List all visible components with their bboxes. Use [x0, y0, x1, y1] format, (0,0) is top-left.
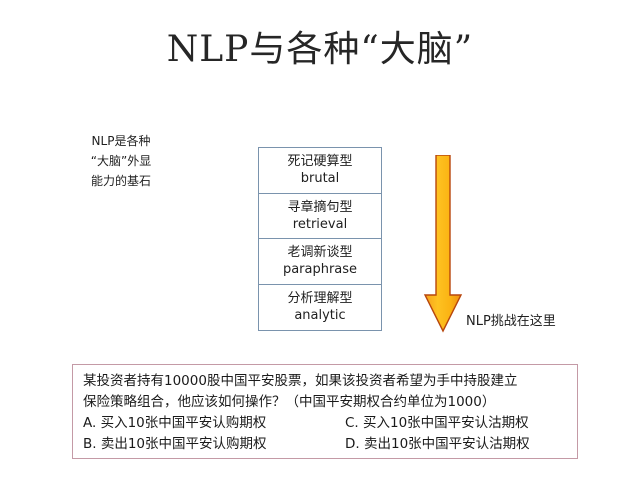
- question-options-left-column: A. 买入10张中国平安认购期权 B. 卖出10张中国平安认购期权: [83, 413, 345, 455]
- brain-row-cn-label: 死记硬算型: [287, 153, 352, 170]
- brain-row-en-label: analytic: [294, 307, 345, 324]
- option-d[interactable]: D. 卖出10张中国平安认沽期权: [345, 434, 569, 455]
- brain-row-cn-label: 老调新谈型: [287, 244, 352, 261]
- slide-canvas: NLP与各种“大脑” NLP是各种 “大脑”外显 能力的基石 死记硬算型 bru…: [0, 0, 640, 481]
- left-caption-line-1: NLP是各种: [62, 131, 180, 151]
- brain-row-cn-label: 寻章摘句型: [287, 199, 352, 216]
- brain-row-en-label: paraphrase: [283, 261, 357, 278]
- brain-row-analytic: 分析理解型 analytic: [259, 285, 381, 331]
- option-b[interactable]: B. 卖出10张中国平安认购期权: [83, 434, 345, 455]
- brain-row-retrieval: 寻章摘句型 retrieval: [259, 194, 381, 240]
- question-stem-line-2: 保险策略组合，他应该如何操作？（中国平安期权合约单位为1000）: [83, 392, 569, 413]
- left-caption-line-3: 能力的基石: [62, 171, 180, 191]
- left-caption-line-2: “大脑”外显: [62, 151, 180, 171]
- question-box: 某投资者持有10000股中国平安股票，如果该投资者希望为手中持股建立 保险策略组…: [72, 364, 578, 459]
- brain-row-paraphrase: 老调新谈型 paraphrase: [259, 239, 381, 285]
- question-options-right-column: C. 买入10张中国平安认沽期权 D. 卖出10张中国平安认沽期权: [345, 413, 569, 455]
- brain-row-cn-label: 分析理解型: [287, 290, 352, 307]
- arrow-label: NLP挑战在这里: [466, 310, 556, 329]
- brain-row-en-label: brutal: [301, 170, 340, 187]
- question-options: A. 买入10张中国平安认购期权 B. 卖出10张中国平安认购期权 C. 买入1…: [83, 413, 569, 455]
- brain-row-en-label: retrieval: [293, 216, 347, 233]
- down-arrow-icon: [421, 155, 465, 333]
- brain-type-stack: 死记硬算型 brutal 寻章摘句型 retrieval 老调新谈型 parap…: [258, 147, 382, 331]
- left-caption: NLP是各种 “大脑”外显 能力的基石: [62, 131, 180, 191]
- brain-row-brutal: 死记硬算型 brutal: [259, 148, 381, 194]
- page-title: NLP与各种“大脑”: [0, 28, 640, 72]
- option-a[interactable]: A. 买入10张中国平安认购期权: [83, 413, 345, 434]
- question-stem-line-1: 某投资者持有10000股中国平安股票，如果该投资者希望为手中持股建立: [83, 371, 569, 392]
- option-c[interactable]: C. 买入10张中国平安认沽期权: [345, 413, 569, 434]
